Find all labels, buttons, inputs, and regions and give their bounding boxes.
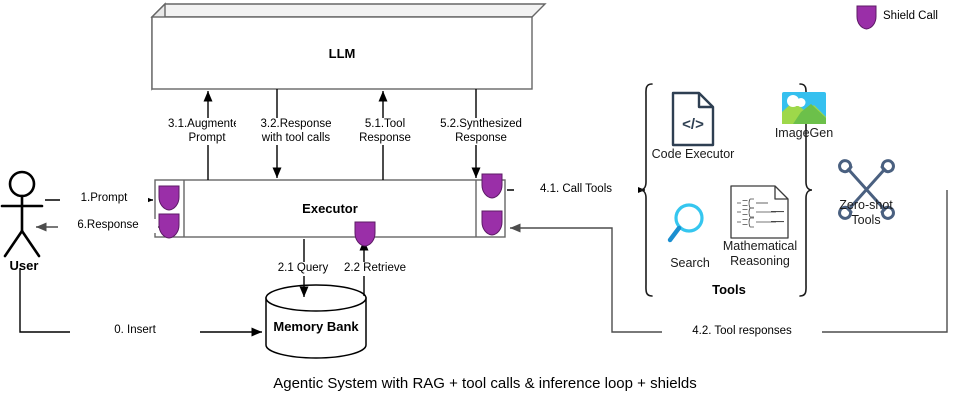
- tool-label-search: Search: [655, 256, 725, 271]
- shield-icon-executor-tools-out: [482, 174, 502, 198]
- user-actor-icon: [2, 172, 42, 256]
- tool-label-imagegen: ImageGen: [763, 126, 845, 141]
- shield-icon-legend: [857, 6, 876, 29]
- tools-group-brace-left: [640, 84, 652, 296]
- shield-icon-executor-in: [159, 186, 179, 210]
- shield-icon-executor-out-user: [159, 214, 179, 238]
- flow-label-tool-response: 5.1.Tool Response: [340, 118, 430, 145]
- flow-label-query: 2.1 Query: [267, 262, 339, 276]
- svg-text:</>: </>: [682, 116, 704, 133]
- flow-label-call-tools: 4.1. Call Tools: [514, 183, 638, 197]
- diagram-canvas: </>: [0, 0, 970, 411]
- diagram-caption: Agentic System with RAG + tool calls & i…: [0, 375, 970, 392]
- llm-label: LLM: [152, 46, 532, 61]
- flow-label-response: 6.Response: [58, 219, 158, 233]
- tool-label-code-executor: Code Executor: [645, 147, 741, 162]
- shield-icon-executor-tools-in: [482, 211, 502, 235]
- formula-document-icon: [731, 186, 788, 238]
- legend-shield-label: Shield Call: [883, 10, 938, 22]
- flow-label-tool-responses: 4.2. Tool responses: [662, 325, 822, 339]
- shield-icon-executor-memory: [355, 222, 375, 246]
- image-picture-icon: [782, 92, 826, 124]
- flow-label-synthesized-response: 5.2.Synthesized Response: [421, 118, 541, 145]
- executor-label: Executor: [184, 201, 476, 216]
- connector-layer: </>: [0, 0, 970, 411]
- flow-label-insert: 0. Insert: [70, 324, 200, 338]
- flow-label-retrieve: 2.2 Retrieve: [334, 262, 416, 276]
- flow-label-response-with-tool-calls: 3.2.Response with tool calls: [236, 118, 356, 145]
- flow-label-prompt: 1.Prompt: [60, 192, 148, 206]
- tool-label-zero-shot-tools: Zero-shot Tools: [833, 198, 899, 228]
- user-label: User: [0, 258, 48, 273]
- code-document-icon: </>: [673, 93, 713, 145]
- tools-group-label: Tools: [676, 282, 782, 297]
- magnifier-icon: [670, 205, 702, 240]
- tool-label-math-reasoning: Mathematical Reasoning: [721, 239, 799, 269]
- flow-insert-line: [20, 268, 262, 332]
- memory-bank-label: Memory Bank: [266, 319, 366, 334]
